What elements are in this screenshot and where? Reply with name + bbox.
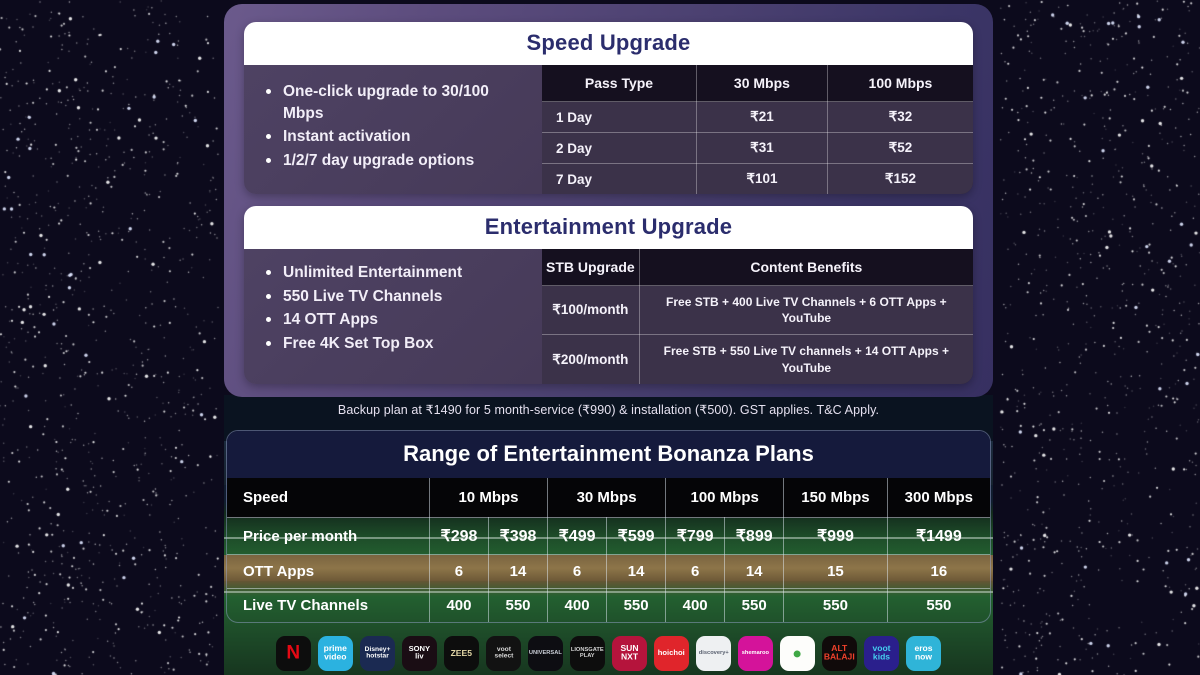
speed-price-cell: ₹101	[696, 164, 827, 195]
stb-upgrade-price-cell: ₹200/month	[542, 335, 639, 384]
bonanza-value-cell: 14	[725, 555, 784, 589]
universal-logo[interactable]: UNIVERSAL	[528, 636, 563, 671]
backup-plan-footnote: Backup plan at ₹1490 for 5 month-service…	[244, 396, 973, 417]
bonanza-value-cell: 400	[548, 589, 607, 623]
bonanza-plans-table: Speed10 Mbps30 Mbps100 Mbps150 Mbps300 M…	[227, 478, 990, 622]
speed-upgrade-panel: Speed Upgrade One-click upgrade to 30/10…	[244, 22, 973, 194]
speed-price-cell: ₹31	[696, 133, 827, 164]
alt-balaji-logo-label: ALT BALAJI	[824, 644, 855, 661]
table-row: OTT Apps6146146141516	[227, 555, 990, 589]
bonanza-value-cell: 550	[784, 589, 887, 623]
voot-kids-logo[interactable]: voot kids	[864, 636, 899, 671]
bonanza-value-cell: ₹1499	[887, 518, 990, 555]
bonanza-row-label: OTT Apps	[227, 555, 429, 589]
bonanza-value-cell: ₹298	[429, 518, 488, 555]
bonanza-value-cell: ₹398	[488, 518, 547, 555]
bonanza-plans-title: Range of Entertainment Bonanza Plans	[227, 431, 990, 478]
content-column: ENJOY THE GAME ENJOY THE GAME ENJOY THE …	[224, 0, 993, 675]
speed-pass-type-cell: 1 Day	[542, 102, 696, 133]
bonanza-speed-header: 10 Mbps	[429, 478, 547, 518]
bonanza-value-cell: 550	[887, 589, 990, 623]
bonanza-value-cell: 400	[666, 589, 725, 623]
table-row: 1 Day₹21₹32	[542, 102, 973, 133]
bonanza-row-label: Live TV Channels	[227, 589, 429, 623]
upgrade-offers-card: Speed Upgrade One-click upgrade to 30/10…	[224, 4, 993, 397]
entertainment-upgrade-title: Entertainment Upgrade	[244, 206, 973, 249]
netflix-logo[interactable]: N	[276, 636, 311, 671]
bonanza-value-cell: 550	[725, 589, 784, 623]
entertainment-bullet-item: 550 Live TV Channels	[266, 286, 532, 308]
entertainment-upgrade-table: STB UpgradeContent Benefits ₹100/monthFr…	[542, 249, 973, 384]
voot-kids-logo-label: voot kids	[872, 644, 890, 661]
eros-now-logo-label: eros now	[914, 644, 932, 661]
bonanza-value-cell: 6	[429, 555, 488, 589]
shemaroo-me-logo-label: shemaroo	[742, 650, 769, 656]
bonanza-value-cell: ₹599	[607, 518, 666, 555]
bonanza-plans-card: Range of Entertainment Bonanza Plans Spe…	[226, 430, 991, 623]
speed-pass-type-cell: 7 Day	[542, 164, 696, 195]
table-row: Live TV Channels400550400550400550550550	[227, 589, 990, 623]
content-benefits-cell: Free STB + 400 Live TV Channels + 6 OTT …	[639, 286, 973, 335]
entertainment-upgrade-panel: Entertainment Upgrade Unlimited Entertai…	[244, 206, 973, 384]
disney-hotstar-logo-label: Disney+ hotstar	[365, 646, 391, 659]
speed-pass-type-cell: 2 Day	[542, 133, 696, 164]
voot-select-logo-label: voot select	[494, 646, 513, 659]
prime-video-logo-label: prime video	[324, 644, 347, 661]
speed-upgrade-bullets: One-click upgrade to 30/100 MbpsInstant …	[244, 65, 542, 194]
speed-bullet-item: 1/2/7 day upgrade options	[266, 150, 532, 172]
bonanza-speed-header: 100 Mbps	[666, 478, 784, 518]
hoichoi-logo[interactable]: hoichoi	[654, 636, 689, 671]
universal-logo-label: UNIVERSAL	[529, 650, 562, 656]
discovery-plus-logo-label: discovery+	[699, 650, 729, 656]
entertainment-bullet-item: Unlimited Entertainment	[266, 262, 532, 284]
bonanza-value-cell: 6	[666, 555, 725, 589]
discovery-plus-logo[interactable]: discovery+	[696, 636, 731, 671]
sun-nxt-logo-label: SUN NXT	[620, 644, 638, 661]
netflix-logo-label: N	[287, 644, 301, 663]
bonanza-value-cell: 14	[607, 555, 666, 589]
alt-balaji-logo[interactable]: ALT BALAJI	[822, 636, 857, 671]
lionsgate-logo[interactable]: LIONSGATE PLAY	[570, 636, 605, 671]
zee5-logo[interactable]: ZEE5	[444, 636, 479, 671]
bonanza-value-cell: 16	[887, 555, 990, 589]
hoichoi-logo-label: hoichoi	[658, 649, 685, 657]
bonanza-value-cell: 550	[607, 589, 666, 623]
entertainment-upgrade-bullets: Unlimited Entertainment550 Live TV Chann…	[244, 249, 542, 384]
sony-liv-logo-label: SONY liv	[409, 645, 431, 660]
speed-upgrade-title: Speed Upgrade	[244, 22, 973, 65]
sony-liv-logo[interactable]: SONY liv	[402, 636, 437, 671]
bonanza-value-cell: 14	[488, 555, 547, 589]
speed-bullet-item: One-click upgrade to 30/100 Mbps	[266, 81, 532, 124]
entertainment-bullet-item: 14 OTT Apps	[266, 309, 532, 331]
ott-app-logo-strip: Nprime videoDisney+ hotstarSONY livZEE5v…	[226, 631, 991, 675]
entertainment-table-header: STB Upgrade	[542, 249, 639, 286]
prime-video-logo[interactable]: prime video	[318, 636, 353, 671]
bonanza-speed-label: Speed	[227, 478, 429, 518]
table-row: 7 Day₹101₹152	[542, 164, 973, 195]
speed-table-header: Pass Type	[542, 65, 696, 102]
speed-price-cell: ₹21	[696, 102, 827, 133]
speed-bullet-item: Instant activation	[266, 126, 532, 148]
bonanza-value-cell: 15	[784, 555, 887, 589]
bonanza-value-cell: ₹499	[548, 518, 607, 555]
table-row: ₹200/monthFree STB + 550 Live TV channel…	[542, 335, 973, 384]
zee5-logo-label: ZEE5	[451, 649, 472, 658]
voot-select-logo[interactable]: voot select	[486, 636, 521, 671]
table-row: 2 Day₹31₹52	[542, 133, 973, 164]
sun-nxt-logo[interactable]: SUN NXT	[612, 636, 647, 671]
bonanza-value-cell: 400	[429, 589, 488, 623]
bonanza-value-cell: ₹899	[725, 518, 784, 555]
stb-upgrade-price-cell: ₹100/month	[542, 286, 639, 335]
bonanza-speed-header: 30 Mbps	[548, 478, 666, 518]
bonanza-speed-header: 300 Mbps	[887, 478, 990, 518]
eros-now-logo[interactable]: eros now	[906, 636, 941, 671]
disney-hotstar-logo[interactable]: Disney+ hotstar	[360, 636, 395, 671]
bonanza-value-cell: 550	[488, 589, 547, 623]
entertainment-table-header: Content Benefits	[639, 249, 973, 286]
lionsgate-logo-label: LIONSGATE PLAY	[571, 647, 604, 658]
entertainment-bullet-item: Free 4K Set Top Box	[266, 333, 532, 355]
speed-table-header: 100 Mbps	[827, 65, 973, 102]
speed-price-cell: ₹32	[827, 102, 973, 133]
bonanza-value-cell: ₹999	[784, 518, 887, 555]
table-row: Price per month₹298₹398₹499₹599₹799₹899₹…	[227, 518, 990, 555]
bonanza-value-cell: ₹799	[666, 518, 725, 555]
content-benefits-cell: Free STB + 550 Live TV channels + 14 OTT…	[639, 335, 973, 384]
chaupal-logo-label: ●	[793, 645, 803, 661]
bonanza-speed-header: 150 Mbps	[784, 478, 887, 518]
speed-price-cell: ₹52	[827, 133, 973, 164]
speed-upgrade-table: Pass Type30 Mbps100 Mbps 1 Day₹21₹322 Da…	[542, 65, 973, 194]
bonanza-row-label: Price per month	[227, 518, 429, 555]
shemaroo-me-logo[interactable]: shemaroo	[738, 636, 773, 671]
bonanza-value-cell: 6	[548, 555, 607, 589]
table-row: ₹100/monthFree STB + 400 Live TV Channel…	[542, 286, 973, 335]
speed-price-cell: ₹152	[827, 164, 973, 195]
speed-table-header: 30 Mbps	[696, 65, 827, 102]
chaupal-logo[interactable]: ●	[780, 636, 815, 671]
